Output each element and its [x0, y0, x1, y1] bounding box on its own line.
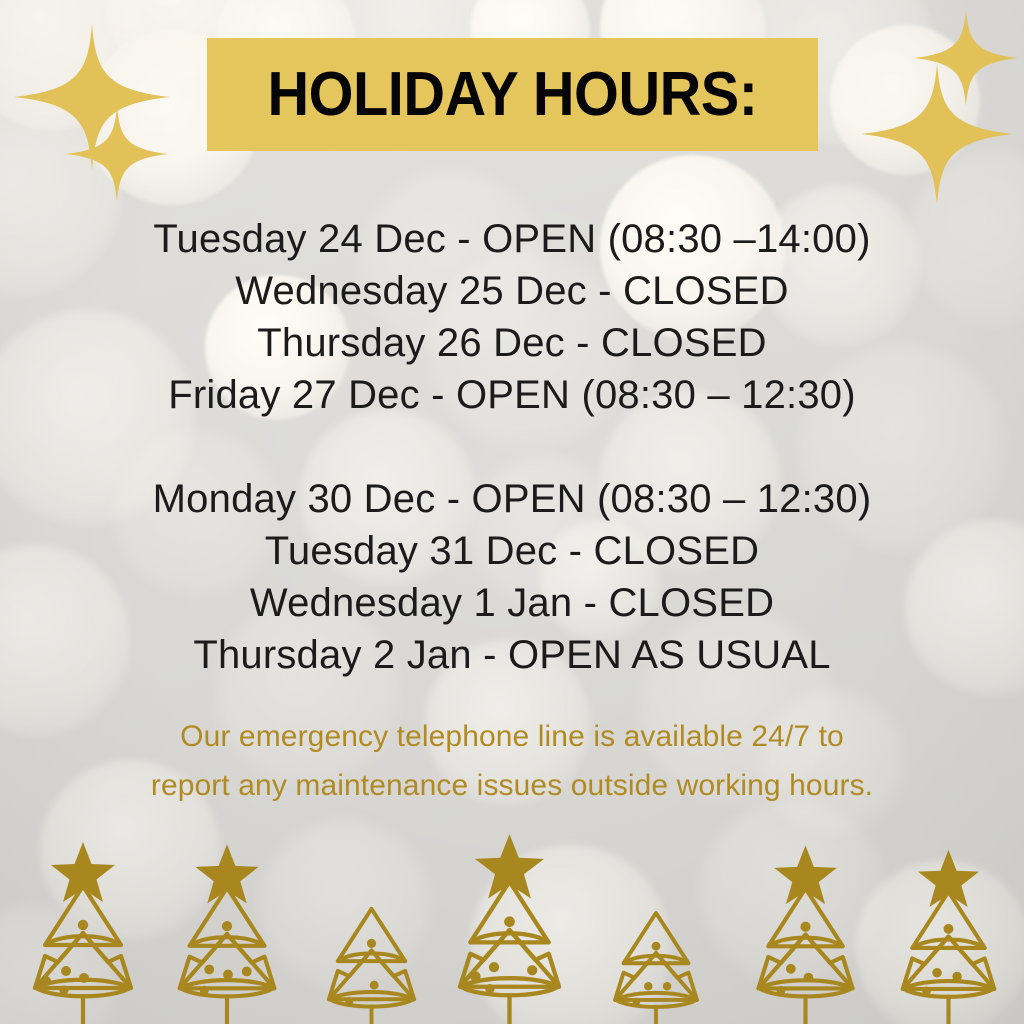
- christmas-tree-icon: [153, 840, 301, 1024]
- hours-group-december: Tuesday 24 Dec - OPEN (08:30 –14:00) Wed…: [0, 213, 1024, 421]
- christmas-tree-icon: [8, 838, 158, 1024]
- hours-list: Tuesday 24 Dec - OPEN (08:30 –14:00) Wed…: [0, 213, 1024, 681]
- christmas-tree-icon: [732, 841, 879, 1024]
- christmas-tree-icon: [305, 873, 438, 1024]
- christmas-tree-icon: [877, 845, 1020, 1024]
- christmas-tree-icon: [592, 878, 720, 1024]
- hours-line: Thursday 26 Dec - CLOSED: [0, 317, 1024, 369]
- emergency-note-line-1: Our emergency telephone line is availabl…: [90, 712, 934, 761]
- hours-group-separator: [0, 421, 1024, 473]
- christmas-tree-row: [0, 824, 1024, 1024]
- hours-group-new-year: Monday 30 Dec - OPEN (08:30 – 12:30) Tue…: [0, 473, 1024, 681]
- sparkle-icon-top-right-large: [860, 62, 1015, 207]
- hours-line: Monday 30 Dec - OPEN (08:30 – 12:30): [0, 473, 1024, 525]
- hours-line: Tuesday 31 Dec - CLOSED: [0, 525, 1024, 577]
- emergency-note-line-2: report any maintenance issues outside wo…: [90, 761, 934, 810]
- page-title: HOLIDAY HOURS:: [267, 64, 757, 126]
- christmas-tree-icon: [432, 832, 587, 1024]
- holiday-hours-poster: HOLIDAY HOURS: Tuesday 24 Dec - OPEN (08…: [0, 0, 1024, 1024]
- hours-line: Friday 27 Dec - OPEN (08:30 – 12:30): [0, 369, 1024, 421]
- title-banner: HOLIDAY HOURS:: [207, 38, 818, 151]
- sparkle-icon-top-right-small: [912, 8, 1020, 108]
- hours-line: Tuesday 24 Dec - OPEN (08:30 –14:00): [0, 213, 1024, 265]
- hours-line: Wednesday 1 Jan - CLOSED: [0, 577, 1024, 629]
- hours-line: Wednesday 25 Dec - CLOSED: [0, 265, 1024, 317]
- emergency-note: Our emergency telephone line is availabl…: [90, 712, 934, 810]
- sparkle-icon-top-left-small: [65, 105, 170, 203]
- sparkle-icon-top-left-large: [12, 22, 172, 172]
- hours-line: Thursday 2 Jan - OPEN AS USUAL: [0, 629, 1024, 681]
